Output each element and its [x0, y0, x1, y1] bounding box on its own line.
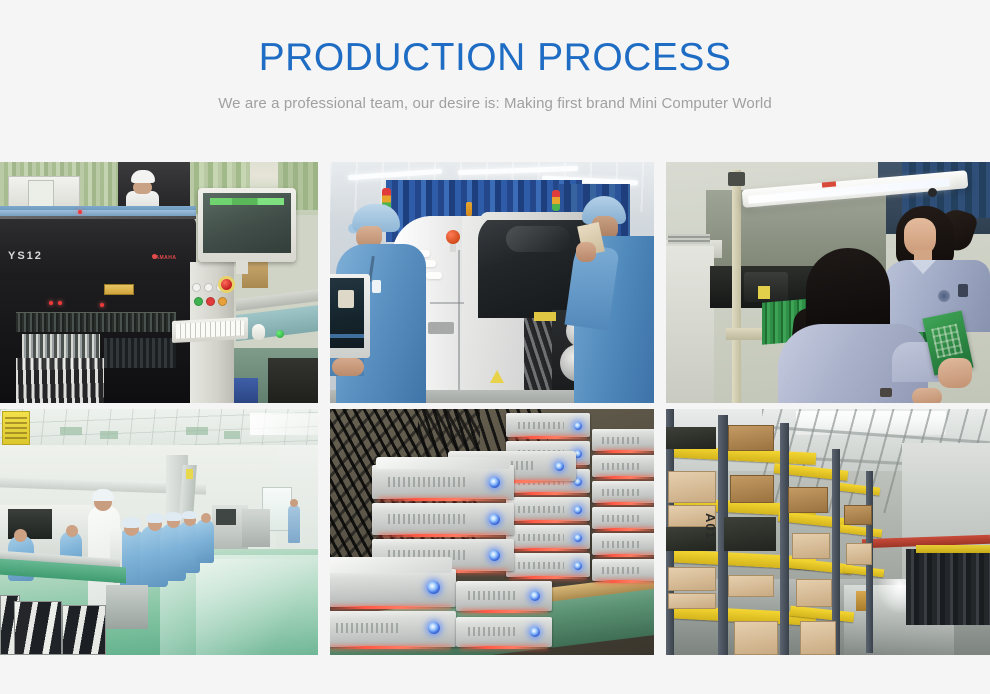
chassis-vent: [518, 562, 564, 569]
pcb-stack-left: [668, 234, 710, 244]
stock-carton: [844, 505, 872, 525]
wrist-watch: [880, 388, 892, 397]
stock-pallet-dark: [724, 517, 776, 551]
gallery-image-pcb-inspection[interactable]: Two female workers inspecting green PCB …: [666, 162, 990, 403]
stock-carton: [668, 593, 716, 609]
line-worker-head-5: [201, 513, 211, 523]
stock-carton: [728, 425, 774, 451]
bench-support-post: [732, 170, 741, 403]
mini-pc-unit: [592, 559, 654, 581]
mini-pc-unit: [456, 617, 552, 647]
supervisor-cap: [92, 489, 114, 501]
hood-glass-reflection: [506, 226, 570, 252]
chassis-vent: [602, 515, 642, 522]
panel-button-white-2: [204, 283, 213, 292]
indicator-led-red-4: [100, 303, 104, 307]
stock-carton: [668, 471, 716, 503]
mini-pc-unit: [592, 481, 654, 503]
stock-carton: [730, 475, 774, 503]
mini-pc-unit: [456, 581, 552, 611]
chassis-vent: [518, 422, 564, 429]
line-worker-head-left-2: [66, 525, 78, 537]
power-led-blue: [489, 550, 500, 561]
stack-light-beacon-3: [466, 202, 472, 216]
monitor-status-bar: [210, 198, 284, 205]
mini-pc-unit: [506, 497, 590, 521]
wall-cabinet: [666, 246, 714, 403]
power-led-blue: [489, 514, 500, 525]
line-worker-body-5: [196, 519, 214, 563]
operator-right-hand: [576, 242, 596, 262]
line-worker-cap-1: [122, 517, 141, 528]
mini-pc-unit: [592, 507, 654, 529]
mini-pc-unit: [506, 553, 590, 577]
chassis-vent: [602, 541, 642, 548]
monitor-board-image: [338, 290, 354, 308]
cable-bundle: [16, 358, 104, 403]
stock-carton: [728, 575, 774, 597]
power-led-blue: [555, 462, 564, 471]
stock-carton: [788, 487, 828, 513]
chassis-vent: [518, 506, 564, 513]
chassis-vent: [388, 477, 466, 487]
indicator-led-red-2: [49, 301, 53, 305]
mini-pc-unit: [372, 465, 514, 499]
mini-pc-unit: [592, 533, 654, 555]
machine-access-slot: [428, 322, 454, 334]
power-led-blue: [574, 422, 582, 430]
chassis-vent: [336, 623, 398, 633]
mini-pc-unit: [330, 569, 456, 607]
machine-panel-seam-2: [430, 302, 464, 304]
ceiling-panel-2: [100, 431, 118, 439]
pallet-rack-beam: [840, 524, 883, 537]
line-worker-head-left: [14, 529, 27, 542]
pallet-rack-right-beam: [916, 545, 990, 553]
line-worker-cap-2: [146, 513, 164, 523]
line-machine-2: [242, 509, 270, 547]
operator-left-id-badge: [372, 280, 381, 293]
page-title: PRODUCTION PROCESS: [0, 38, 990, 79]
duct-yellow-tag: [186, 469, 193, 479]
component-feeder-bank-right: [104, 338, 176, 368]
chassis-vent: [602, 437, 642, 444]
stock-carton: [846, 543, 872, 565]
uniform-logo-badge: [938, 290, 950, 302]
power-led-blue: [427, 581, 440, 594]
stock-carton: [668, 567, 716, 591]
gallery-image-warehouse[interactable]: A01 Warehouse aisle with yellow pallet r…: [666, 409, 990, 655]
pallet-rack-beam: [844, 565, 885, 578]
mini-pc-unit: [372, 503, 514, 535]
monitor-scan-line: [330, 334, 364, 338]
panel-button-green: [194, 297, 203, 306]
stock-pallet-dark: [666, 427, 716, 449]
panel-button-amber: [218, 297, 227, 306]
mini-pc-unit: [506, 525, 590, 549]
stock-carton: [734, 621, 778, 655]
panel-button-red: [206, 297, 215, 306]
page-header: PRODUCTION PROCESS We are a professional…: [0, 0, 990, 112]
gallery-image-smt-pick-and-place[interactable]: YS12 YAMAHA SMT pick-and-pl: [0, 162, 318, 403]
mini-pc-unit: [330, 611, 456, 647]
machine-housing-highlight: [0, 216, 196, 219]
machine-model-label: YS12: [8, 250, 43, 262]
indicator-led-red-1: [78, 210, 82, 214]
operator-hand-foreground: [332, 358, 364, 376]
machine-handle-3: [426, 272, 442, 279]
power-led-blue: [530, 627, 540, 637]
production-process-gallery: YS12 YAMAHA SMT pick-and-pl: [0, 162, 990, 655]
worker-front-hand-left: [912, 388, 942, 403]
worker-front-hand-right: [938, 358, 972, 388]
rack-location-label: A01: [703, 513, 718, 540]
chassis-vent: [388, 514, 466, 524]
chassis-vent: [602, 567, 642, 574]
machine-yellow-label: [758, 286, 770, 299]
material-cart: [106, 585, 148, 629]
indicator-led-green: [276, 330, 284, 338]
line-worker-cap-3: [165, 512, 182, 521]
ceiling-panel-4: [224, 431, 240, 439]
distant-worker: [288, 505, 300, 543]
ceiling-light-glow: [250, 413, 318, 435]
post-clamp: [728, 172, 745, 186]
pallet-rack-beam: [784, 557, 853, 574]
ceiling-panel-3: [186, 427, 208, 435]
stack-light-beacon-2: [552, 190, 560, 211]
stock-carton: [800, 621, 836, 655]
chassis-vent: [602, 489, 642, 496]
component-feeder-bank: [16, 312, 176, 332]
dark-worktable: [268, 358, 318, 403]
equipment-case-2: [62, 605, 106, 655]
mini-pc-unit: [506, 413, 590, 437]
power-led-blue: [530, 591, 540, 601]
distant-worker-head: [290, 499, 298, 507]
computer-mouse: [252, 324, 265, 340]
machine-warning-label: [104, 284, 134, 295]
page-subtitle: We are a professional team, our desire i…: [0, 95, 990, 112]
panel-button-white-1: [192, 283, 201, 292]
background-operator-cap: [131, 170, 155, 183]
ceiling-panel-1: [60, 427, 82, 435]
chassis-top-face: [376, 457, 510, 469]
chassis-vent: [518, 534, 564, 541]
machine-housing: [0, 216, 196, 280]
emergency-stop-button: [218, 276, 235, 293]
emergency-stop-button: [446, 230, 460, 244]
indicator-led-red-3: [58, 301, 62, 305]
monitor-stand: [236, 260, 248, 274]
line-machine-screen: [216, 509, 236, 525]
machine-brand-label: YAMAHA: [152, 255, 176, 261]
pallet-rack-right-bank: [906, 549, 990, 625]
mini-pc-unit: [592, 429, 654, 451]
equipment-case-1: [14, 601, 62, 655]
line-worker-cap-4: [182, 511, 197, 519]
placard-text-lines: [5, 417, 27, 439]
gallery-image-mini-pc-stacks[interactable]: Stacks of finished silver mini PC chassi…: [330, 409, 654, 655]
chassis-vent: [468, 591, 518, 600]
chassis-vent: [468, 627, 518, 636]
machine-hood-rail: [480, 212, 596, 220]
worker-back-pocket: [958, 284, 968, 297]
mini-pc-unit: [592, 455, 654, 477]
hazard-sticker-strip: [534, 312, 556, 321]
power-led-blue: [574, 562, 582, 570]
machine-panel-seam: [458, 250, 460, 402]
pallet-rack-upright: [780, 423, 789, 655]
gallery-image-assembly-line[interactable]: Assembly line with workers in blue ESD g…: [0, 409, 318, 655]
power-led-blue: [574, 534, 582, 542]
chassis-vent: [602, 463, 642, 470]
power-led-blue: [428, 622, 440, 634]
chassis-top-face: [330, 557, 452, 573]
stock-carton: [792, 533, 830, 559]
stock-carton: [796, 579, 832, 607]
power-led-blue: [489, 477, 500, 488]
gallery-image-smt-operators[interactable]: Two technicians in blue ESD coats and ca…: [330, 162, 654, 403]
power-led-blue: [574, 506, 582, 514]
